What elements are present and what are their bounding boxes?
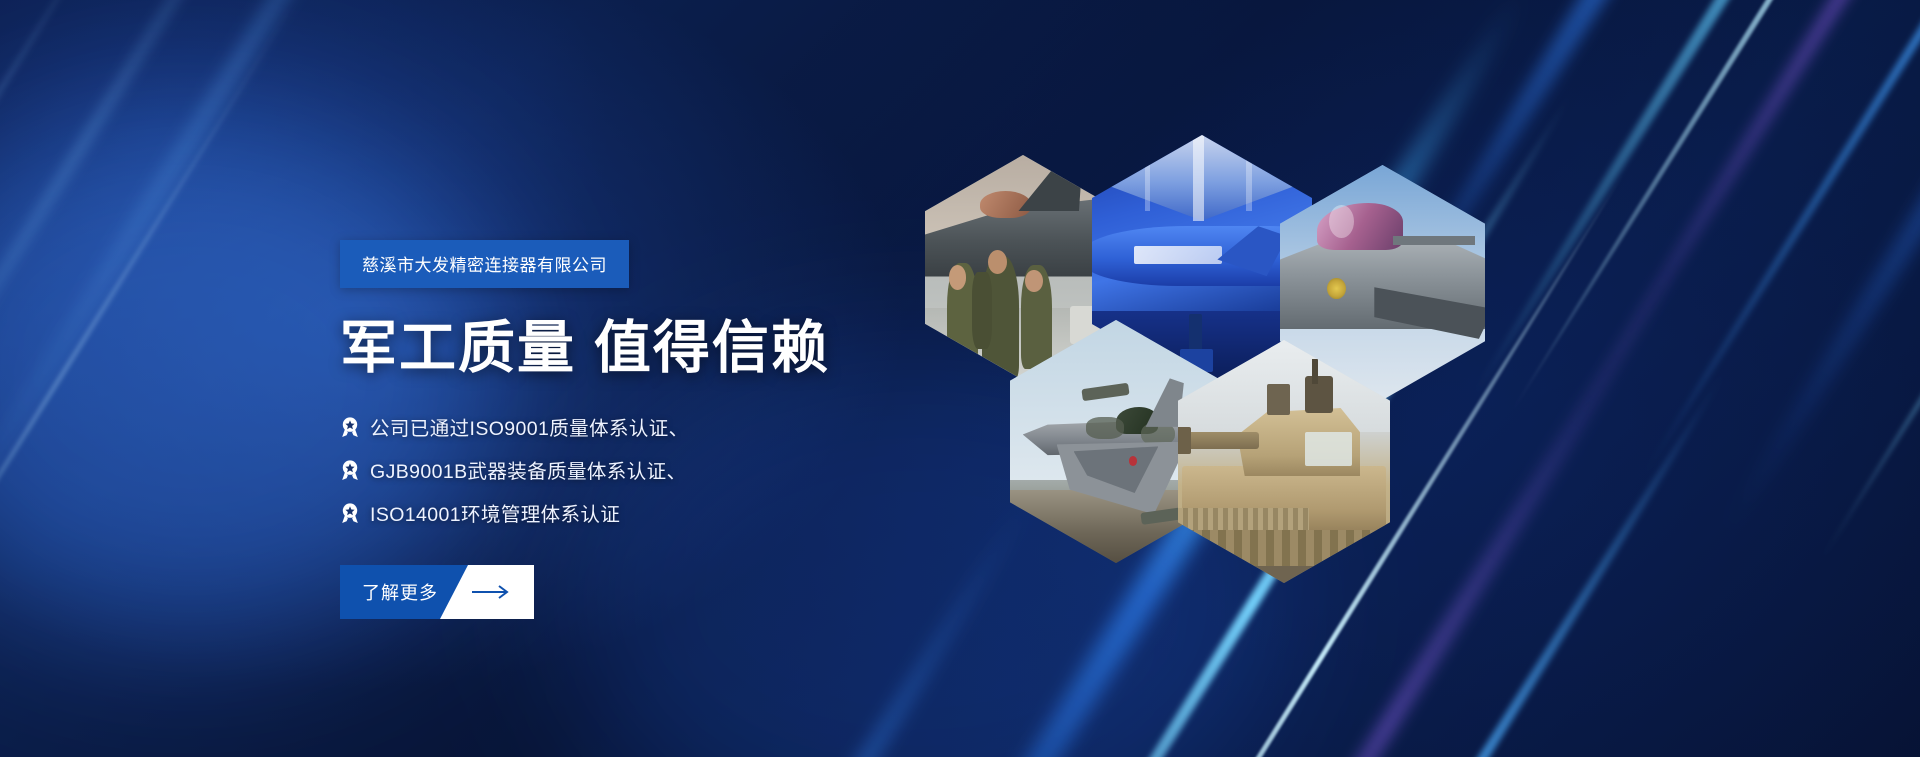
list-item-label: 公司已通过ISO9001质量体系认证、 [370,412,689,441]
medal-icon [340,502,360,524]
page-title: 军工质量 值得信赖 [340,302,830,384]
list-item-label: GJB9001B武器装备质量体系认证、 [370,455,686,484]
certification-list: 公司已通过ISO9001质量体系认证、 GJB9001B武器装备质量体系认证、 [340,405,940,534]
hero-content: 慈溪市大发精密连接器有限公司 军工质量 值得信赖 公司已通过ISO9001质量体… [340,0,980,757]
list-item-label: ISO14001环境管理体系认证 [370,498,620,527]
list-item: 公司已通过ISO9001质量体系认证、 [340,405,940,448]
learn-more-button[interactable]: 了解更多 [340,565,534,619]
hero-banner: 慈溪市大发精密连接器有限公司 军工质量 值得信赖 公司已通过ISO9001质量体… [0,0,1920,757]
list-item: GJB9001B武器装备质量体系认证、 [340,448,940,491]
list-item: ISO14001环境管理体系认证 [340,491,940,534]
learn-more-label: 了解更多 [362,565,438,619]
medal-icon [340,416,360,438]
arrow-right-icon [472,565,512,619]
company-name-badge: 慈溪市大发精密连接器有限公司 [340,240,629,288]
hexagon-photo-cluster [925,135,1485,505]
medal-icon [340,459,360,481]
